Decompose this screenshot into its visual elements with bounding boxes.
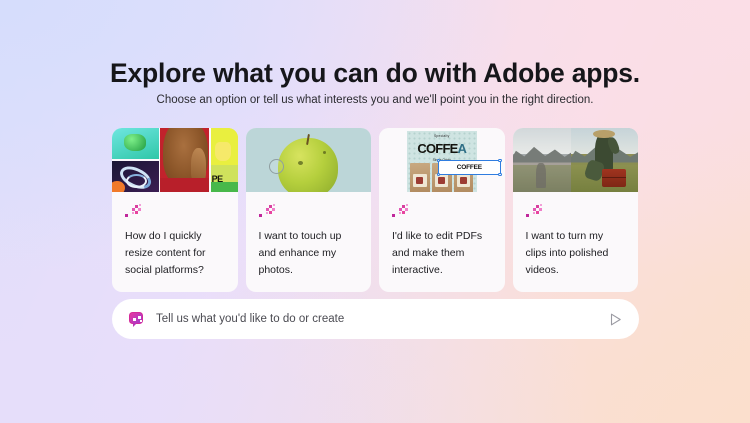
- page-title: Explore what you can do with Adobe apps.: [0, 58, 750, 89]
- selection-text: COFFEE: [457, 164, 482, 171]
- poster-title: COFFEA: [407, 141, 477, 156]
- suggestion-card-resize-content[interactable]: PE How do I quickly resize content for s…: [112, 128, 238, 292]
- suggestion-cards: PE How do I quickly resize content for s…: [112, 128, 639, 292]
- card-label: I want to turn my clips into polished vi…: [526, 228, 626, 279]
- card-label: I'd like to edit PDFs and make them inte…: [392, 228, 492, 279]
- collage-panel-portrait: [160, 128, 209, 192]
- card-body: How do I quickly resize content for soci…: [112, 192, 238, 292]
- collage-panel-right: PE: [211, 128, 238, 192]
- sparkle-icon: [259, 203, 277, 219]
- card-body: I want to turn my clips into polished vi…: [513, 192, 639, 292]
- selection-handle-top-left[interactable]: [437, 159, 440, 162]
- video-clips-thumbnail: [513, 128, 639, 192]
- sparkle-icon: [125, 203, 143, 219]
- selection-handle-top-right[interactable]: [498, 159, 501, 162]
- collage-panel-left: [112, 128, 159, 192]
- sparkle-icon: [526, 203, 544, 219]
- video-frame-left: [513, 128, 572, 192]
- page-subtitle: Choose an option or tell us what interes…: [0, 94, 750, 106]
- card-body: I want to touch up and enhance my photos…: [246, 192, 372, 292]
- text-selection-box[interactable]: COFFEE: [438, 160, 501, 175]
- collage-thumbnail: PE: [112, 128, 238, 192]
- prompt-input[interactable]: Tell us what you'd like to do or create: [156, 313, 607, 325]
- suggestion-card-polished-videos[interactable]: I want to turn my clips into polished vi…: [513, 128, 639, 292]
- send-triangle-icon[interactable]: [607, 311, 624, 328]
- sparkle-icon: [392, 203, 410, 219]
- apple-photo-thumbnail: [246, 128, 372, 192]
- suggestion-card-edit-pdfs[interactable]: Specialty COFFEA Single Origin COFFEE: [379, 128, 505, 292]
- video-frame-right: [571, 128, 638, 192]
- pdf-coffee-poster-thumbnail: Specialty COFFEA Single Origin COFFEE: [379, 128, 505, 192]
- prompt-input-bar[interactable]: Tell us what you'd like to do or create: [112, 299, 639, 339]
- card-label: How do I quickly resize content for soci…: [125, 228, 225, 279]
- card-body: I'd like to edit PDFs and make them inte…: [379, 192, 505, 292]
- app-root: Explore what you can do with Adobe apps.…: [0, 0, 750, 423]
- selection-handle-bottom-right[interactable]: [498, 173, 501, 176]
- chat-sparkle-icon: [129, 311, 145, 327]
- suggestion-card-touch-up-photos[interactable]: I want to touch up and enhance my photos…: [246, 128, 372, 292]
- card-label: I want to touch up and enhance my photos…: [259, 228, 359, 279]
- poster-tiny-text: Specialty: [407, 134, 477, 138]
